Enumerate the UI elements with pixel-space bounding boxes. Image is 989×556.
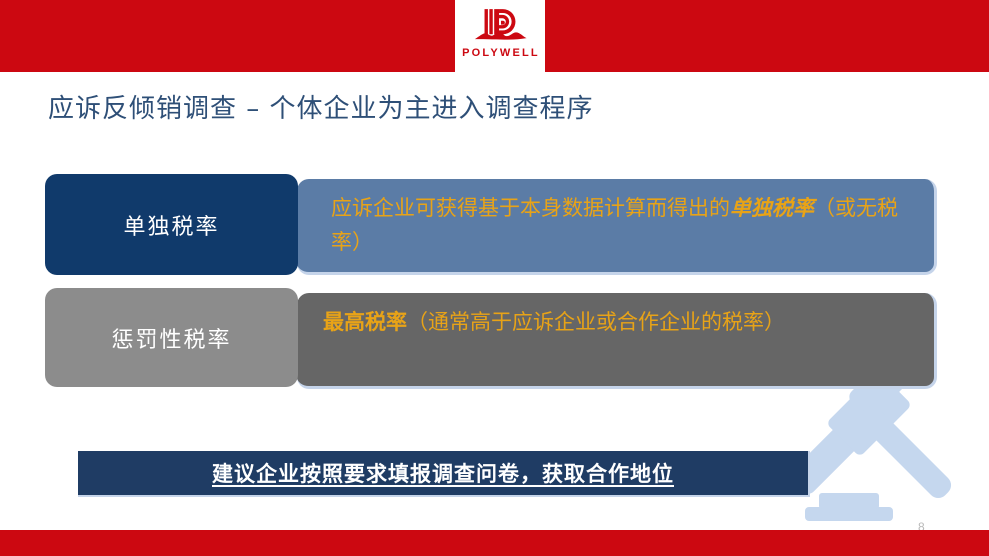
row-2-label: 惩罚性税率 <box>45 288 298 387</box>
polywell-p-mountain-logo-icon <box>471 5 529 49</box>
row-2-text-part-1: 最高税率 <box>323 310 407 334</box>
recommendation-banner: 建议企业按照要求填报调查问卷，获取合作地位 <box>78 451 810 497</box>
top-red-band: POLYWELL <box>0 0 989 72</box>
page-title: 应诉反倾销调查 – 个体企业为主进入调查程序 <box>48 88 594 125</box>
row-2-content: 最高税率（通常高于应诉企业或合作企业的税率） <box>297 293 937 389</box>
bottom-red-band <box>0 530 989 556</box>
logo-wordmark: POLYWELL <box>460 47 540 59</box>
logo-plate: POLYWELL <box>455 0 545 72</box>
row-1-content: 应诉企业可获得基于本身数据计算而得出的单独税率（或无税率） <box>297 179 937 275</box>
row-1-label: 单独税率 <box>45 174 298 275</box>
slide-canvas: POLYWELL 应诉反倾销调查 – 个体企业为主进入调查程序 应诉企业可获得基… <box>0 0 989 556</box>
recommendation-banner-text: 建议企业按照要求填报调查问卷，获取合作地位 <box>212 458 674 488</box>
row-1-text-part-1: 应诉企业可获得基于本身数据计算而得出的 <box>331 196 730 220</box>
row-2-text-part-2: （通常高于应诉企业或合作企业的税率） <box>407 310 785 334</box>
row-1-text-part-2: 单独税率 <box>730 196 814 220</box>
